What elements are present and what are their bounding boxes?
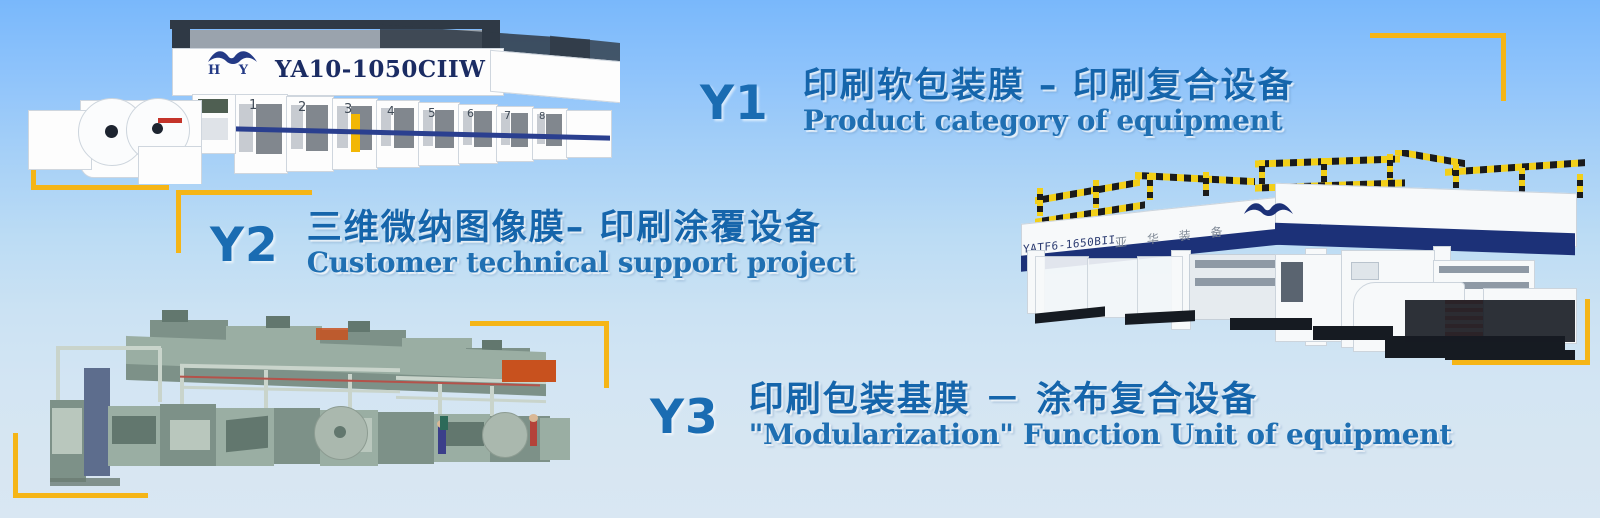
entry-y1-english-subtitle: Product category of equipment (803, 106, 1295, 135)
entry-y2-chinese-title: 三维微纳图像膜– 印刷涂覆设备 (307, 210, 856, 248)
machine-photo-dry-lamination-coating-machine: YATF6-1650BII 亚 华 装 备 (975, 150, 1595, 370)
machine2-bird-logo-icon (1240, 198, 1298, 218)
bracket-top-right-horizontal (1370, 33, 1506, 38)
machine1-unit-number: 7 (504, 109, 511, 122)
entry-y2-code: Y2 (210, 222, 279, 269)
bracket-y2-horizontal (176, 190, 312, 195)
bracket-top-left-horizontal (31, 185, 169, 190)
entry-y1-chinese-title: 印刷软包装膜 – 印刷复合设备 (803, 68, 1295, 106)
machine1-unit-number: 2 (298, 100, 306, 115)
machine1-unit-number: 3 (344, 102, 352, 117)
bracket-top-right-vertical (1501, 33, 1506, 101)
machine-photo-rotogravure-printing-press: H Y YA10-1050CIIW (20, 6, 620, 184)
machine-photo-base-film-coating-production-line (30, 308, 575, 486)
bracket-middle-vertical (604, 321, 609, 388)
entry-y2: Y2 三维微纳图像膜– 印刷涂覆设备 Customer technical su… (210, 210, 856, 277)
equipment-product-banner: H Y YA10-1050CIIW (0, 0, 1600, 518)
entry-y3-chinese-title: 印刷包装基膜 － 涂布复合设备 (749, 382, 1452, 420)
bracket-y2-vertical (176, 190, 181, 253)
machine1-unit-number: 5 (428, 106, 436, 120)
hy-bird-logo-icon (206, 46, 260, 66)
entry-y3-code: Y3 (650, 394, 719, 441)
entry-y3: Y3 印刷包装基膜 － 涂布复合设备 "Modularization" Func… (650, 382, 1452, 449)
entry-y1: Y1 印刷软包装膜 – 印刷复合设备 Product category of e… (700, 68, 1295, 135)
machine1-unit-number: 4 (387, 104, 395, 118)
entry-y1-code: Y1 (700, 80, 769, 127)
bracket-bottom-left-vertical (13, 433, 18, 498)
machine1-unit-number: 8 (539, 111, 545, 122)
entry-y2-english-subtitle: Customer technical support project (307, 248, 856, 277)
machine1-model-label: YA10-1050CIIW (275, 56, 486, 83)
entry-y3-english-subtitle: "Modularization" Function Unit of equipm… (749, 420, 1452, 449)
machine1-unit-number: 1 (249, 98, 257, 113)
bracket-bottom-left-horizontal (13, 493, 148, 498)
machine1-unit-number: 6 (467, 107, 474, 120)
